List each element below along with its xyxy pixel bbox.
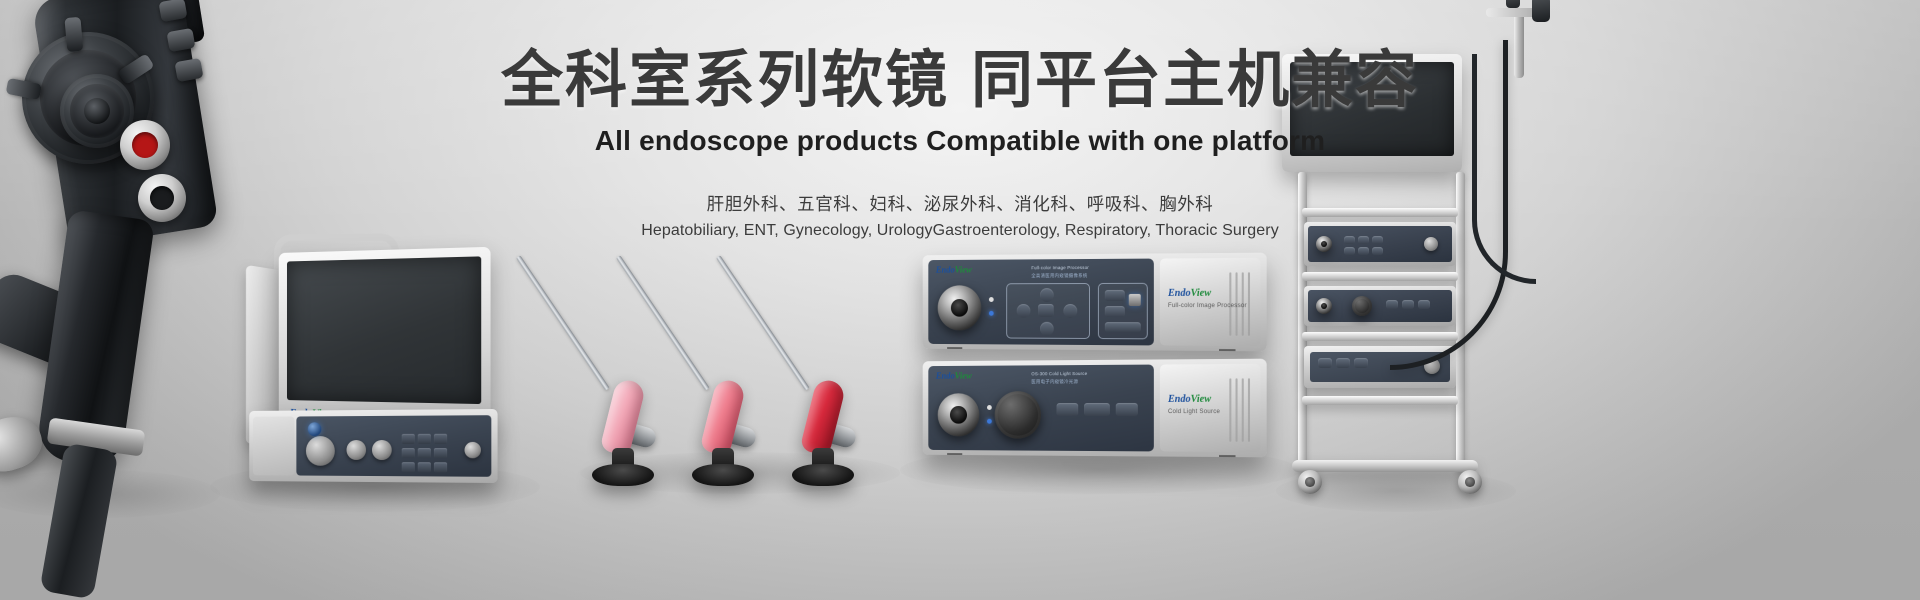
cart-device-2-dial[interactable] (1352, 296, 1372, 316)
light-console-fiber-port[interactable] (938, 393, 980, 436)
light-console-title-cn: 医用电子内窥镜冷光源 (1031, 379, 1078, 385)
light-console-led-power (987, 405, 992, 410)
cold-light-source-console: EndoView OS-300 Cold Light Source 医用电子内窥… (923, 359, 1267, 458)
rigid-scope-red-base (792, 464, 854, 486)
light-console-brand-logo: EndoView (936, 372, 972, 381)
camera-console-vent-1 (1248, 272, 1250, 336)
camera-console-title-cn: 全高清医用内窥镜摄像系统 (1031, 273, 1087, 279)
camera-console-led-status (989, 311, 994, 316)
camera-system-console: EndoView Full-color Image Processor 全高清医… (923, 253, 1267, 352)
processor-key-2[interactable] (418, 434, 431, 444)
camera-console-usb-port[interactable] (1129, 294, 1141, 306)
camera-console-btn-down[interactable] (1040, 322, 1054, 336)
camera-console-keypad-panel (1006, 283, 1090, 339)
camera-console-btn-up[interactable] (1040, 288, 1054, 302)
light-console-vent-1 (1248, 378, 1250, 442)
processor-key-1[interactable] (402, 434, 415, 444)
light-console-brightness-dial[interactable] (995, 391, 1041, 439)
camera-console-foot-right (1219, 349, 1235, 351)
camera-console-btn-menu[interactable] (1038, 304, 1054, 317)
endoscope-insertion-tube (39, 442, 118, 599)
cart-device-3-btn-3[interactable] (1354, 358, 1368, 368)
cart-device-2-port[interactable] (1316, 298, 1332, 314)
cart-device-3-btn-2[interactable] (1336, 358, 1350, 368)
processor-key-4[interactable] (402, 448, 415, 458)
banner-text-block: 全科室系列软镜同平台主机兼容 All endoscope products Co… (0, 44, 1920, 240)
cart-scope-holder (1486, 0, 1552, 40)
headline-cn-part2: 同平台主机兼容 (971, 46, 1419, 115)
departments-cn: 肝胆外科、五官科、妇科、泌尿外科、消化科、呼吸科、胸外科 (0, 191, 1920, 216)
processor-key-6[interactable] (434, 448, 447, 458)
light-console-side-brand: EndoView (1168, 395, 1211, 405)
camera-console-foot-left (947, 347, 962, 351)
camera-console-btn-wb[interactable] (1105, 290, 1125, 301)
processor-key-5[interactable] (418, 448, 431, 458)
camera-console-brand-logo: EndoView (936, 266, 972, 275)
cart-device-3-btn-1[interactable] (1318, 358, 1332, 368)
processor-key-9[interactable] (434, 462, 447, 472)
processor-key-3[interactable] (434, 434, 447, 444)
console-stack: EndoView Full-color Image Processor 全高清医… (916, 254, 1276, 466)
camera-console-vent-4 (1229, 272, 1231, 335)
cart-caster-right (1458, 470, 1482, 494)
cart-device-1-btn-6[interactable] (1372, 247, 1383, 255)
camera-console-led-power (989, 297, 994, 302)
light-console-btn-menu[interactable] (1084, 403, 1110, 416)
camera-console-scope-coupler[interactable] (938, 285, 982, 330)
light-console-side-sub: Cold Light Source (1168, 409, 1220, 415)
processor-knob-a[interactable] (346, 440, 366, 460)
light-console-title-en: OS-300 Cold Light Source (1031, 371, 1087, 376)
light-console-vent-2 (1242, 378, 1244, 442)
cart-base (1292, 460, 1478, 472)
headline-cn-part1: 全科室系列软镜 (501, 46, 949, 115)
camera-console-output-panel (1098, 283, 1148, 340)
light-console-btn-brightness-up[interactable] (1116, 403, 1138, 416)
camera-console-btn-aux[interactable] (1105, 322, 1141, 332)
cart-shelf-4 (1302, 396, 1458, 405)
light-console-led-lamp (987, 419, 992, 424)
camera-console-front-panel: EndoView Full-color Image Processor 全高清医… (928, 259, 1154, 346)
light-console-vent-3 (1236, 378, 1238, 441)
light-console-foot-left (947, 453, 962, 457)
processor-key-8[interactable] (418, 462, 431, 472)
departments-en: Hepatobiliary, ENT, Gynecology, UrologyG… (0, 222, 1920, 240)
camera-console-side-brand: EndoView (1168, 289, 1211, 299)
light-console-btn-brightness-down[interactable] (1057, 403, 1079, 416)
camera-console-right-panel: EndoView Full-color Image Processor (1160, 258, 1261, 346)
processor-knob-b[interactable] (372, 440, 392, 460)
page-title: 全科室系列软镜同平台主机兼容 (0, 44, 1920, 117)
camera-console-btn-rec[interactable] (1105, 306, 1125, 317)
banner-stage: 全科室系列软镜同平台主机兼容 All endoscope products Co… (0, 0, 1920, 600)
processor-key-7[interactable] (402, 462, 415, 472)
light-console-front-panel: EndoView OS-300 Cold Light Source 医用电子内窥… (928, 365, 1154, 452)
camera-console-title-en: Full-color Image Processor (1031, 265, 1089, 270)
camera-console-vent-2 (1242, 272, 1244, 336)
light-console-right-panel: EndoView Cold Light Source (1160, 364, 1261, 452)
processor-front-panel (296, 415, 491, 477)
headline-en: All endoscope products Compatible with o… (0, 125, 1920, 157)
light-console-vent-4 (1229, 378, 1231, 441)
cart-device-1-btn-4[interactable] (1344, 247, 1355, 255)
camera-console-btn-right[interactable] (1063, 304, 1077, 318)
cart-caster-left (1298, 470, 1322, 494)
camera-console-vent-3 (1236, 272, 1238, 335)
light-console-foot-right (1219, 455, 1235, 457)
camera-console-btn-left[interactable] (1017, 304, 1031, 318)
processor-power-button[interactable] (465, 442, 481, 458)
rigid-scope-red (716, 258, 866, 478)
cart-device-1-btn-5[interactable] (1358, 247, 1369, 255)
